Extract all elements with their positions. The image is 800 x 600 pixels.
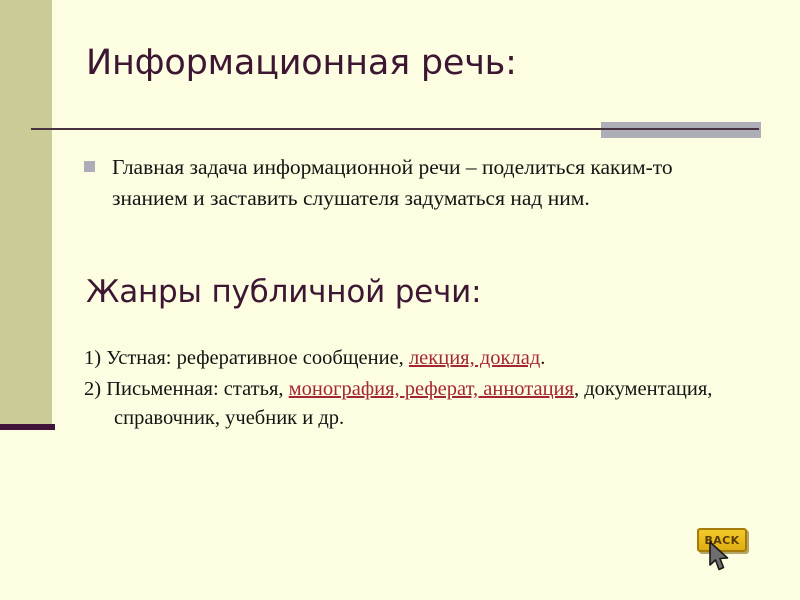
genre-hyperlink[interactable]: лекция, доклад [409,347,540,369]
bullet-list-item: Главная задача информационной речи – под… [84,152,724,214]
genre-list-item: 1) Устная: реферативное сообщение, лекци… [84,344,764,373]
title-rule-block [601,122,761,138]
slide-title: Информационная речь: [86,44,746,83]
genre-hyperlink[interactable]: монография, реферат, аннотация [289,378,574,400]
section-heading: Жанры публичной речи: [86,274,481,310]
genre-list: 1) Устная: реферативное сообщение, лекци… [84,344,764,433]
presentation-slide: Информационная речь: Главная задача инфо… [0,0,800,600]
square-bullet-icon [84,161,95,172]
genre-text-prefix: 2) Письменная: статья, [84,378,289,400]
back-navigation-widget[interactable]: BACK [697,528,759,576]
title-rule-line [31,128,759,130]
genre-list-item: 2) Письменная: статья, монография, рефер… [84,375,764,433]
genre-text-suffix: . [540,347,545,369]
bullet-item-text: Главная задача информационной речи – под… [112,152,724,214]
genre-text-prefix: 1) Устная: реферативное сообщение, [84,347,409,369]
decorative-side-band-edge [0,424,55,430]
mouse-pointer-icon [707,541,733,573]
decorative-side-band [0,0,52,424]
